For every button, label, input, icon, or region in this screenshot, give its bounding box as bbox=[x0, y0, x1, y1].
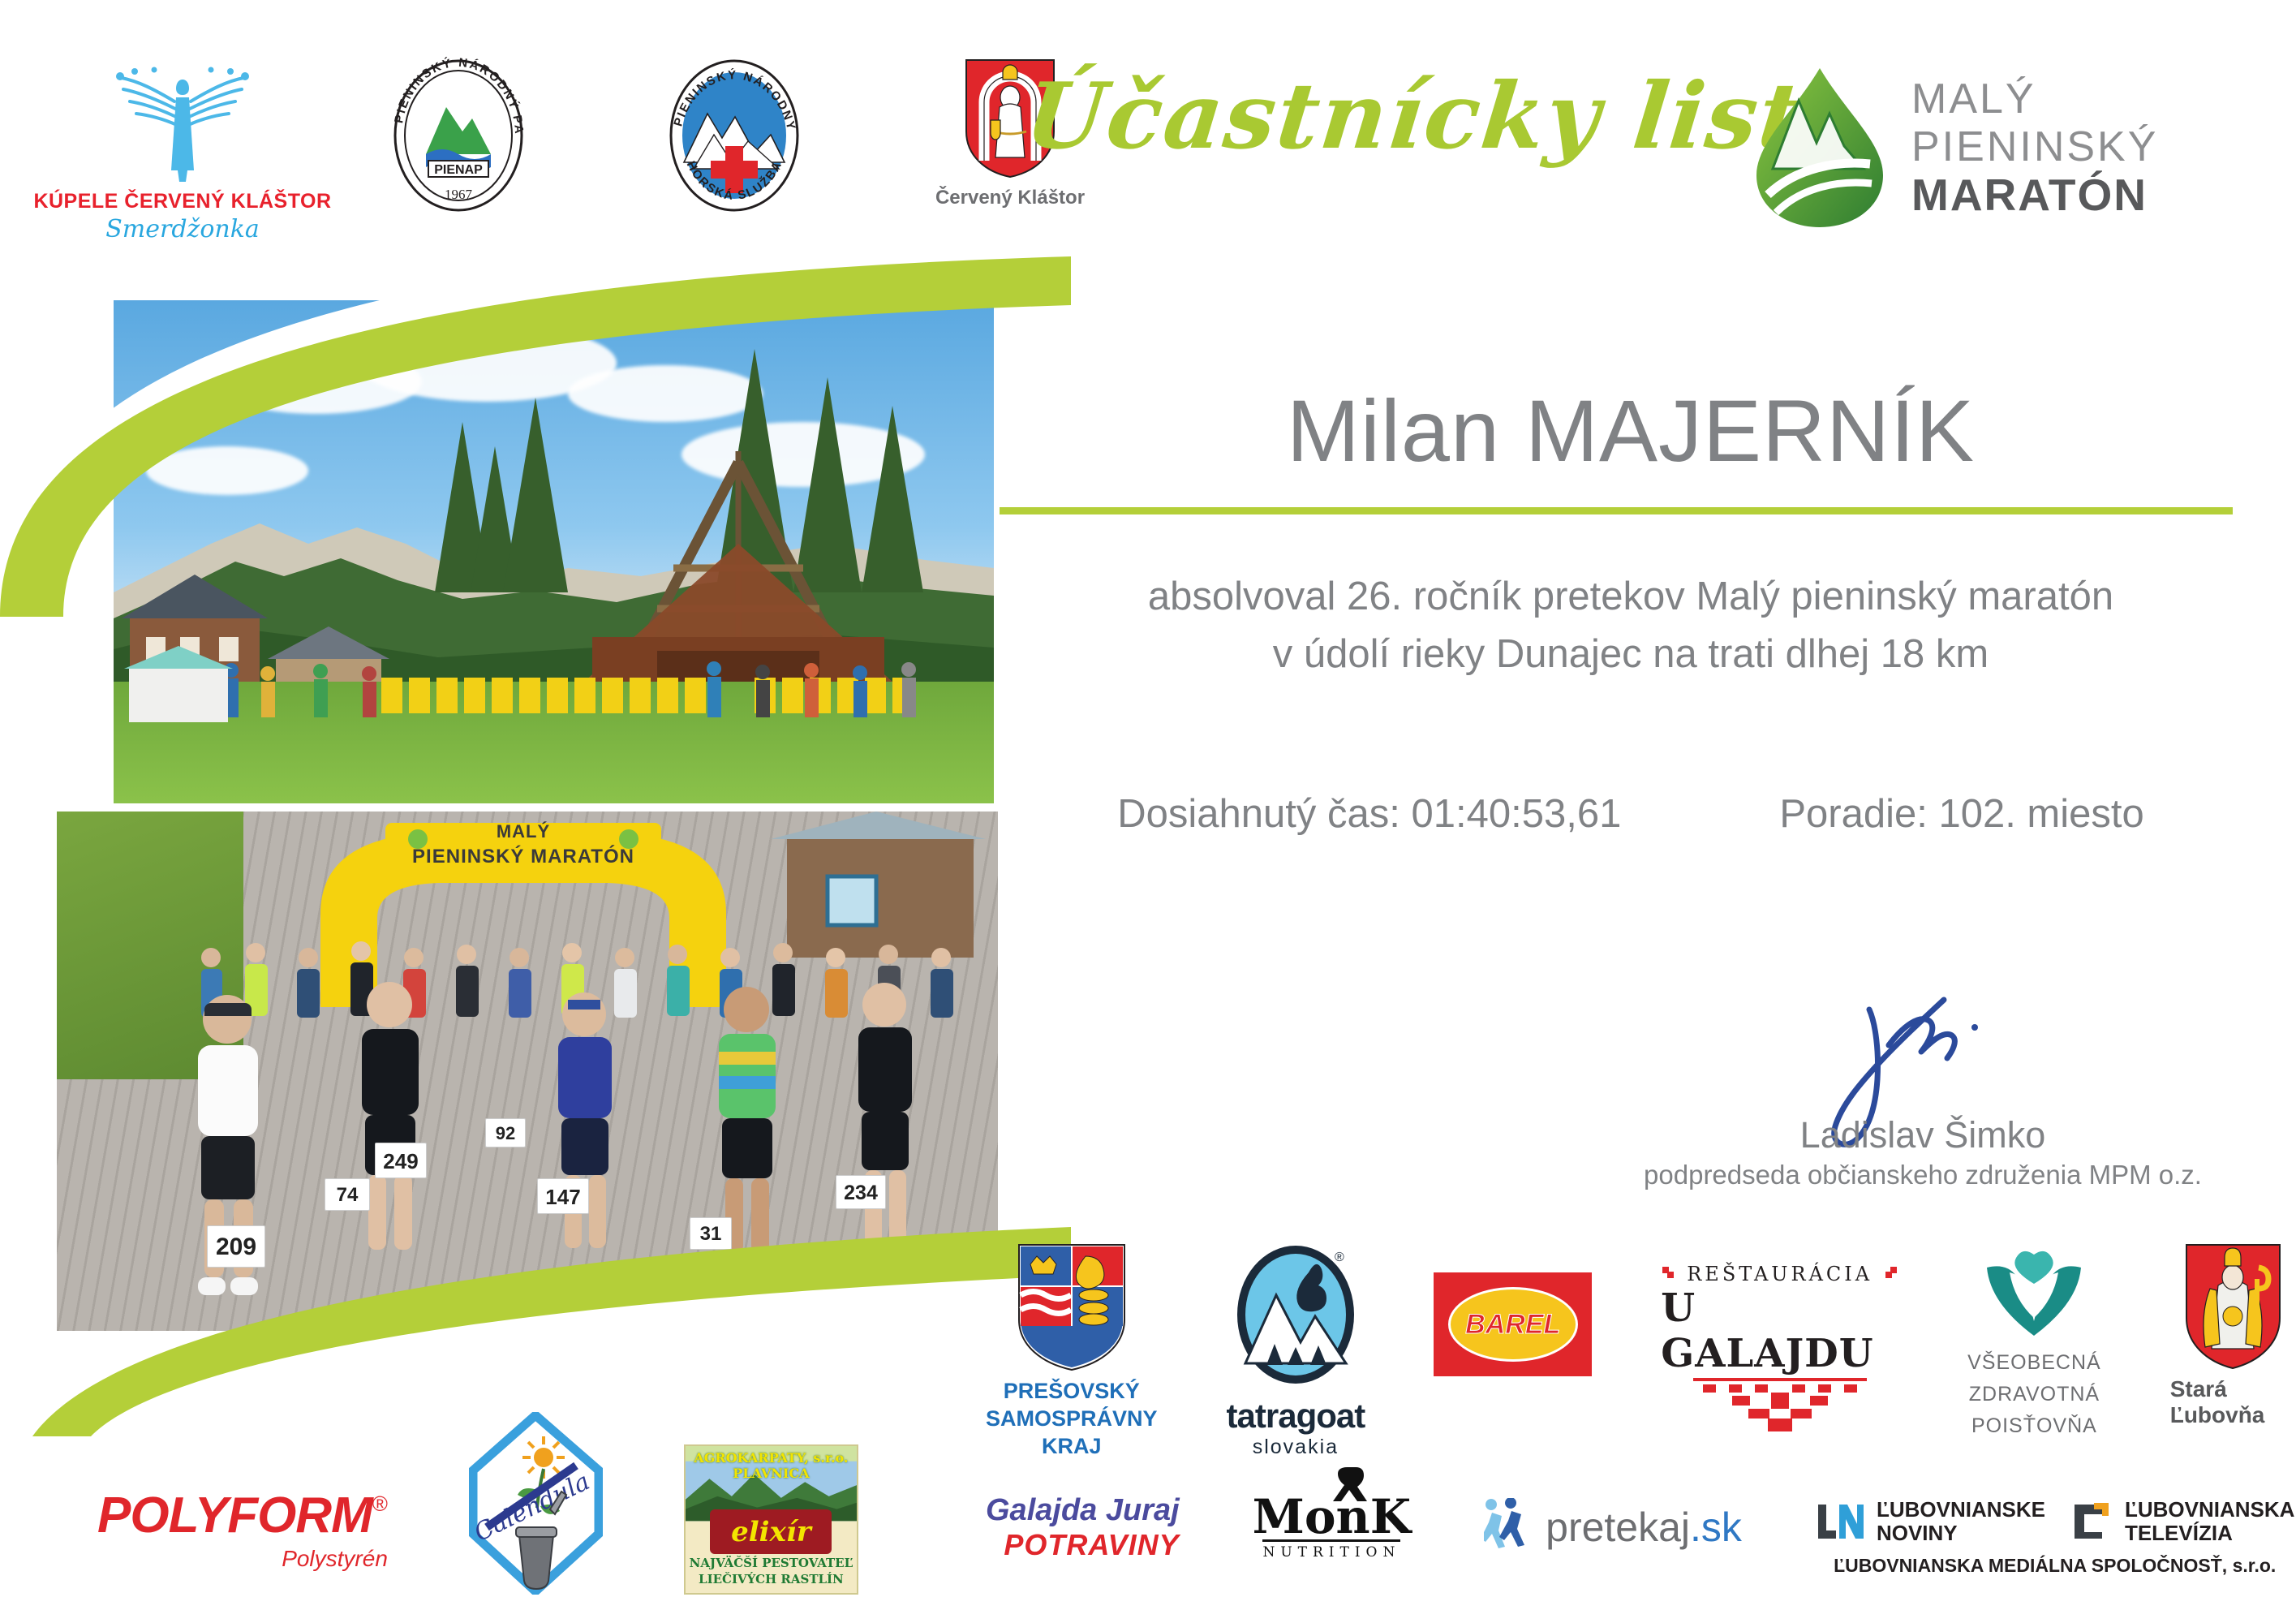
ln-mark-icon bbox=[1815, 1501, 1864, 1542]
spa-angel-icon bbox=[97, 57, 268, 187]
bib-number: 249 bbox=[375, 1143, 427, 1178]
svg-text:1967: 1967 bbox=[445, 187, 473, 202]
signature-block: Ladislav Šimko podpredseda občianskeho z… bbox=[1639, 994, 2207, 1190]
ln-line1: ĽUBOVNIANSKE bbox=[1877, 1498, 2045, 1522]
event-tent bbox=[118, 641, 239, 730]
bib-number: 234 bbox=[836, 1175, 886, 1209]
galajdu-top: REŠTAURÁCIA bbox=[1687, 1263, 1872, 1285]
participant-description: absolvoval 26. ročník pretekov Malý pien… bbox=[1010, 568, 2251, 683]
tatragoat-word: tatragoat bbox=[1227, 1397, 1365, 1436]
signature-role: podpredseda občianskeho združenia MPM o.… bbox=[1639, 1160, 2207, 1190]
stara-lubovna-label: Stará Ľubovňa bbox=[2170, 1376, 2296, 1428]
calendula-icon: Calendula bbox=[469, 1412, 603, 1595]
folk-pattern-icon bbox=[1687, 1378, 1873, 1435]
sponsor-presovsky-samospravny-kraj: PREŠOVSKÝ SAMOSPRÁVNY KRAJ bbox=[986, 1242, 1158, 1460]
psk-line1: PREŠOVSKÝ bbox=[986, 1378, 1158, 1406]
mountain-rescue-seal-icon: PIENINSKÝ NÁRODNÝ PARK HORSKÁ SLUŽBA bbox=[657, 57, 811, 215]
polyform-trademark: ® bbox=[372, 1492, 388, 1517]
sponsor-polyform: POLYFORM ® Polystyrén bbox=[97, 1487, 388, 1572]
galajda-line1: Galajda Juraj bbox=[986, 1493, 1180, 1528]
agrokarpaty-top: AGROKARPATY, s.r.o. PLAVNICA bbox=[686, 1450, 857, 1481]
sponsor-row-2: Galajda Juraj POTRAVINY MonK NUTRITION p… bbox=[986, 1493, 2294, 1577]
kck-line1: KÚPELE ČERVENÝ KLÁŠTOR bbox=[33, 190, 331, 213]
vzp-text: VŠEOBECNÁ ZDRAVOTNÁ POISŤOVŇA bbox=[1967, 1347, 2101, 1441]
foreground-runners bbox=[130, 982, 965, 1323]
elixir-banner: elixír bbox=[710, 1509, 832, 1554]
agrokarpaty-bottom2: LIEČIVÝCH RASTLÍN bbox=[686, 1572, 857, 1586]
brand-line-1: MALÝ bbox=[1911, 75, 2158, 123]
sponsor-pretekaj-sk: pretekaj.sk bbox=[1484, 1498, 1742, 1556]
vzp-line2: ZDRAVOTNÁ bbox=[1967, 1379, 2101, 1410]
photo-race-start: MALÝ PIENINSKÝ MARATÓN bbox=[57, 811, 998, 1331]
sponsor-agrokarpaty-elixir: AGROKARPATY, s.r.o. PLAVNICA elixír NAJV… bbox=[684, 1444, 858, 1595]
psk-line3: KRAJ bbox=[986, 1433, 1158, 1461]
ln-line2: NOVINY bbox=[1877, 1522, 2045, 1545]
finish-rank: Poradie: 102. miesto bbox=[1779, 791, 2143, 837]
logo-kupele-cerveny-klastor: KÚPELE ČERVENÝ KLÁŠTOR Smerdžonka bbox=[89, 57, 276, 243]
sponsor-tatragoat: ® tatragoat slovakia bbox=[1227, 1242, 1365, 1459]
galajda-line2: POTRAVINY bbox=[1004, 1528, 1179, 1562]
pienap-seal-icon: PIENAP PIENINSKÝ NÁRODNÝ PARK 1967 bbox=[381, 57, 535, 215]
barel-oval: BAREL bbox=[1448, 1287, 1578, 1362]
arch-text-line2: PIENINSKÝ MARATÓN bbox=[296, 846, 750, 868]
vzp-line1: VŠEOBECNÁ bbox=[1967, 1347, 2101, 1379]
pretekaj-name: pretekaj bbox=[1546, 1505, 1690, 1550]
polyform-word: POLYFORM bbox=[97, 1487, 372, 1544]
header-partner-logos: KÚPELE ČERVENÝ KLÁŠTOR Smerdžonka PIENAP… bbox=[89, 57, 1103, 243]
brand-line-3: MARATÓN bbox=[1911, 170, 2158, 221]
lubovnianska-televizia: ĽUBOVNIANSKA TELEVÍZIA bbox=[2070, 1498, 2294, 1545]
sponsor-stara-lubovna: Stará Ľubovňa bbox=[2170, 1242, 2296, 1428]
sponsor-calendula: Calendula bbox=[469, 1412, 603, 1595]
finish-time: Dosiahnutý čas: 01:40:53,61 bbox=[1117, 791, 1621, 837]
logo-horska-sluzba: PIENINSKÝ NÁRODNÝ PARK HORSKÁ SLUŽBA bbox=[641, 57, 828, 215]
result-row: Dosiahnutý čas: 01:40:53,61 Poradie: 102… bbox=[1010, 791, 2251, 837]
brand-line-2: PIENINSKÝ bbox=[1911, 123, 2158, 170]
sponsor-monk-nutrition: MonK NUTRITION bbox=[1253, 1466, 1411, 1561]
folk-ornament-icon bbox=[1661, 1264, 1679, 1285]
vzp-line3: POISŤOVŇA bbox=[1967, 1410, 2101, 1442]
certificate-page: KÚPELE ČERVENÝ KLÁŠTOR Smerdžonka PIENAP… bbox=[0, 0, 2296, 1623]
sponsor-vseobecna-zdravotna-poistovna: VŠEOBECNÁ ZDRAVOTNÁ POISŤOVŇA bbox=[1967, 1250, 2101, 1441]
svg-text:®: ® bbox=[1335, 1251, 1344, 1264]
logo-pieninsky-narodny-park: PIENAP PIENINSKÝ NÁRODNÝ PARK 1967 bbox=[365, 57, 552, 215]
polyform-sub: Polystyrén bbox=[282, 1546, 388, 1572]
crowd-top bbox=[146, 649, 965, 730]
pretekaj-word: pretekaj.sk bbox=[1546, 1504, 1742, 1551]
lt-text: ĽUBOVNIANSKA TELEVÍZIA bbox=[2125, 1498, 2294, 1545]
leaf-mountain-icon bbox=[1748, 65, 1890, 231]
page-title: Účastnícky list bbox=[1021, 63, 1808, 170]
psk-text: PREŠOVSKÝ SAMOSPRÁVNY KRAJ bbox=[986, 1378, 1158, 1460]
runners-icon bbox=[1484, 1498, 1534, 1556]
bib-number: 92 bbox=[485, 1118, 526, 1147]
bib-number: 209 bbox=[207, 1225, 265, 1268]
bib-number: 147 bbox=[537, 1178, 589, 1214]
arch-text-line1: MALÝ bbox=[296, 821, 750, 842]
ln-text: ĽUBOVNIANSKE NOVINY bbox=[1877, 1498, 2045, 1545]
lt-line2: TELEVÍZIA bbox=[2125, 1522, 2294, 1545]
sponsor-galajda-juraj: Galajda Juraj POTRAVINY bbox=[986, 1493, 1180, 1562]
description-line-1: absolvoval 26. ročník pretekov Malý pien… bbox=[1010, 568, 2251, 626]
monk-sub: NUTRITION bbox=[1262, 1539, 1400, 1561]
kck-line2: Smerdžonka bbox=[105, 215, 260, 243]
stara-lubovna-coat-icon bbox=[2182, 1242, 2284, 1370]
coat-label: Červený Kláštor bbox=[935, 187, 1085, 209]
lubovnianska-footer: ĽUBOVNIANSKA MEDIÁLNA SPOLOČNOSŤ, s.r.o. bbox=[1834, 1555, 2276, 1577]
participant-name: Milan MAJERNÍK bbox=[1010, 380, 2251, 481]
vzp-icon bbox=[1977, 1250, 2091, 1347]
svg-text:PIENAP: PIENAP bbox=[434, 163, 483, 177]
galajdu-main: U GALAJDU bbox=[1661, 1285, 1898, 1376]
photo-panel: MALÝ PIENINSKÝ MARATÓN bbox=[49, 252, 1010, 1404]
psk-line2: SAMOSPRÁVNY bbox=[986, 1406, 1158, 1433]
elixir-word: elixír bbox=[731, 1516, 811, 1548]
folk-ornament-icon bbox=[1881, 1264, 1898, 1285]
pretekaj-tld: .sk bbox=[1690, 1505, 1742, 1550]
sponsor-u-galajdu: REŠTAURÁCIA U GALAJDU bbox=[1661, 1263, 1898, 1435]
tatragoat-icon: ® bbox=[1231, 1242, 1361, 1392]
mpm-brand-logo: MALÝ PIENINSKÝ MARATÓN bbox=[1748, 65, 2158, 231]
sponsor-row-1: PREŠOVSKÝ SAMOSPRÁVNY KRAJ ® tatragoat s… bbox=[986, 1242, 2296, 1460]
title-divider bbox=[1000, 507, 2233, 514]
barel-box: BAREL bbox=[1434, 1272, 1592, 1376]
monk-word: MonK bbox=[1253, 1495, 1411, 1539]
agrokarpaty-bottom1: NAJVÄČŠÍ PESTOVATEĽ bbox=[686, 1556, 857, 1570]
photo-venue bbox=[114, 300, 994, 803]
sponsor-barel: BAREL bbox=[1434, 1272, 1592, 1376]
bib-number: 74 bbox=[325, 1178, 370, 1211]
signature-name: Ladislav Šimko bbox=[1639, 1114, 2207, 1156]
lt-mark-icon bbox=[2070, 1501, 2112, 1542]
barel-word: BAREL bbox=[1465, 1309, 1560, 1341]
lubovnianske-noviny: ĽUBOVNIANSKE NOVINY bbox=[1815, 1498, 2045, 1545]
sponsor-bottom-left: POLYFORM ® Polystyrén Cal bbox=[97, 1412, 858, 1595]
bib-number: 31 bbox=[690, 1217, 732, 1250]
description-line-2: v údolí rieky Dunajec na trati dlhej 18 … bbox=[1010, 626, 2251, 683]
lt-line1: ĽUBOVNIANSKA bbox=[2125, 1498, 2294, 1522]
psk-shield-icon bbox=[1016, 1242, 1128, 1371]
tatragoat-sub: slovakia bbox=[1253, 1436, 1339, 1459]
sponsor-lubovnianska-medialna: ĽUBOVNIANSKE NOVINY ĽUBOVNIANSKA TELEVÍZ… bbox=[1815, 1498, 2294, 1577]
agrokarpaty-box: AGROKARPATY, s.r.o. PLAVNICA elixír NAJV… bbox=[684, 1444, 858, 1595]
